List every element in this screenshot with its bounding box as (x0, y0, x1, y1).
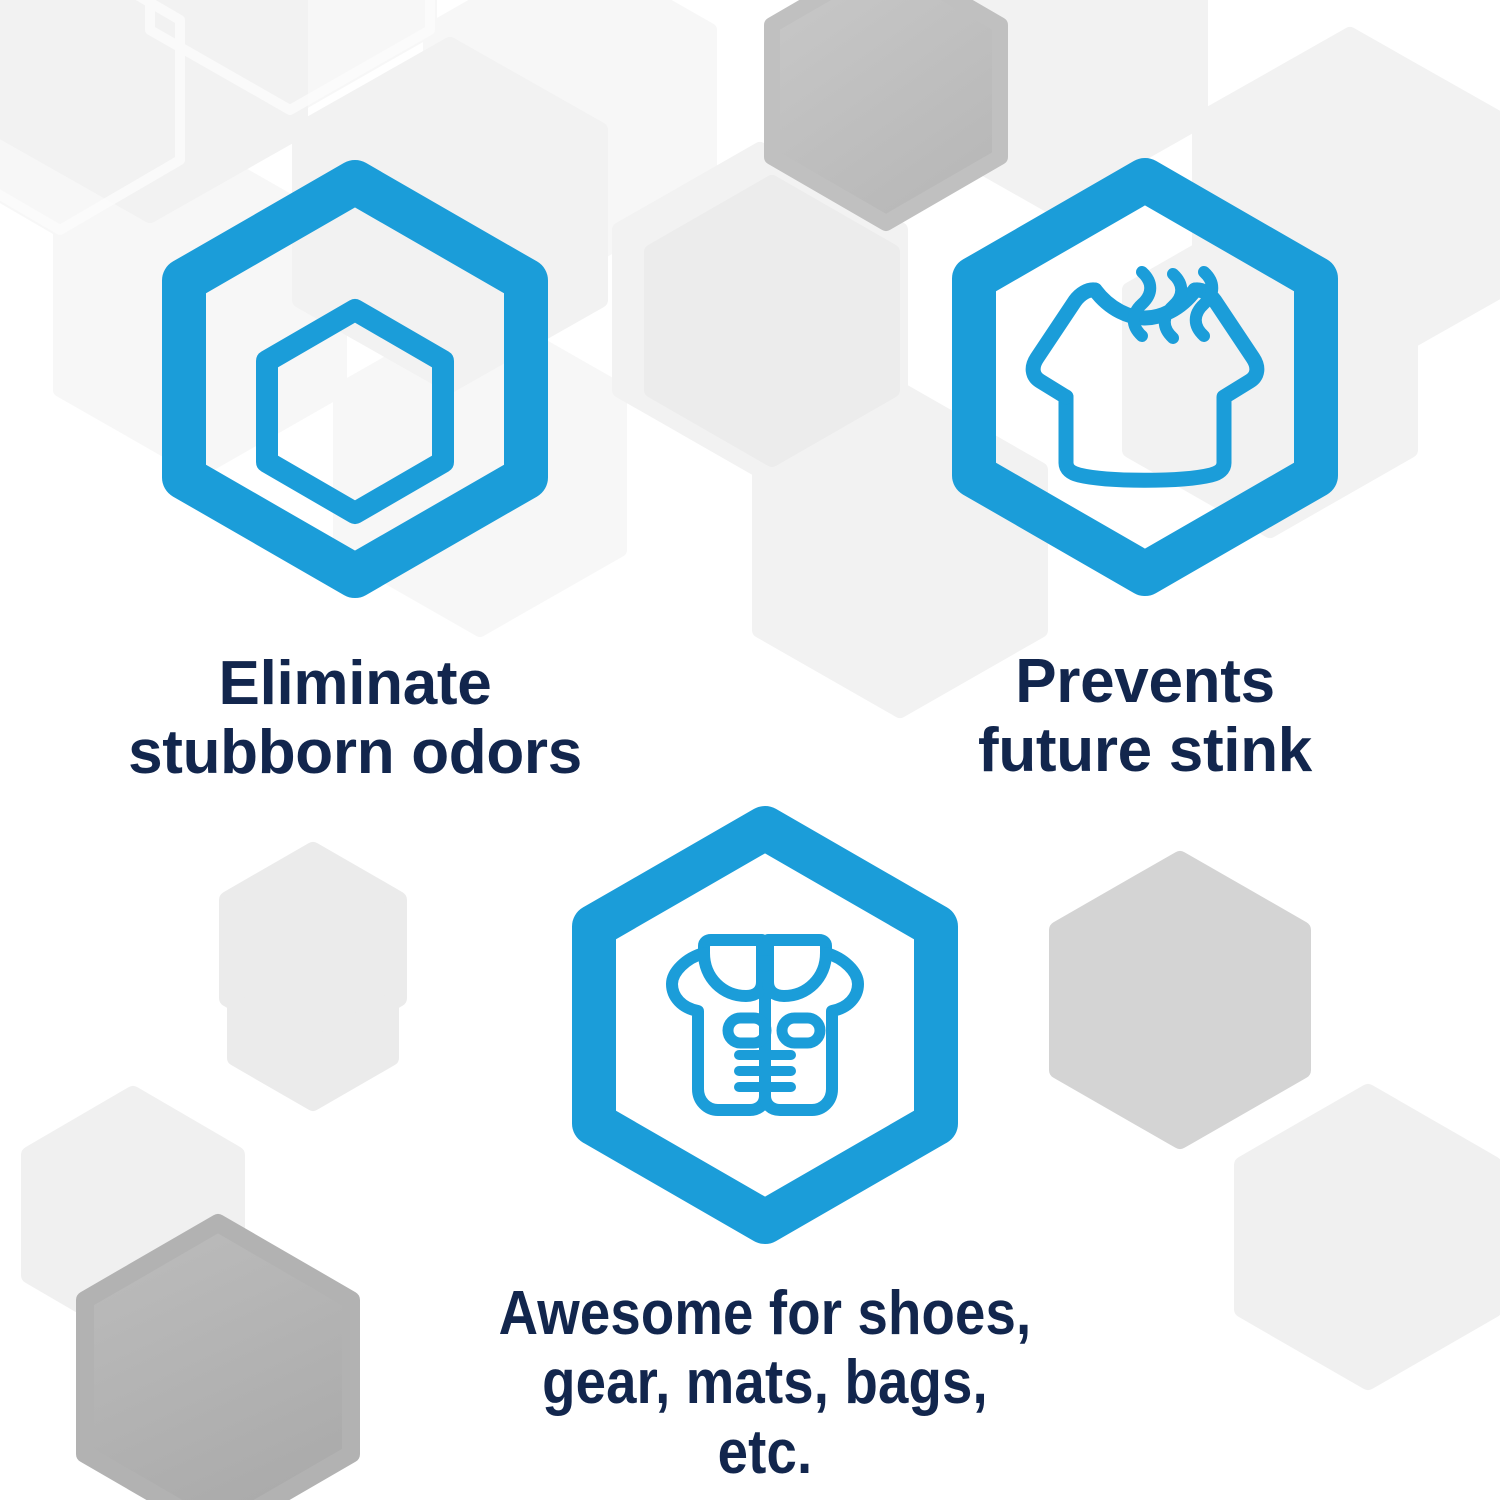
stinky-tshirt-icon (930, 158, 1360, 623)
feature-awesome-label: Awesome for shoes, gear, mats, bags, etc… (492, 1279, 1038, 1487)
bg-hex-faint (150, 0, 430, 110)
feature-eliminate: Eliminate stubborn odors (60, 160, 650, 788)
bg-hex-outline (150, 0, 430, 110)
nested-hexagon-icon (140, 160, 570, 625)
vest-buckle-right (782, 1018, 820, 1043)
bg-hex-light (30, 1095, 236, 1335)
bg-hex-dark (85, 1223, 351, 1500)
bg-hex-light (228, 851, 398, 1047)
bg-hex-light (235, 923, 391, 1103)
feature-prevents: Prevents future stink (850, 158, 1440, 786)
bg-hex-light (1243, 1093, 1493, 1381)
feature-prevents-label: Prevents future stink (978, 647, 1312, 786)
bg-hex-mid (1058, 860, 1302, 1140)
infographic-panel: Eliminate stubborn odors Prevents future… (0, 0, 1500, 1500)
feature-eliminate-label: Eliminate stubborn odors (128, 649, 582, 788)
feature-awesome: Awesome for shoes, gear, mats, bags, etc… (455, 806, 1075, 1487)
life-vest-icon (550, 806, 980, 1271)
